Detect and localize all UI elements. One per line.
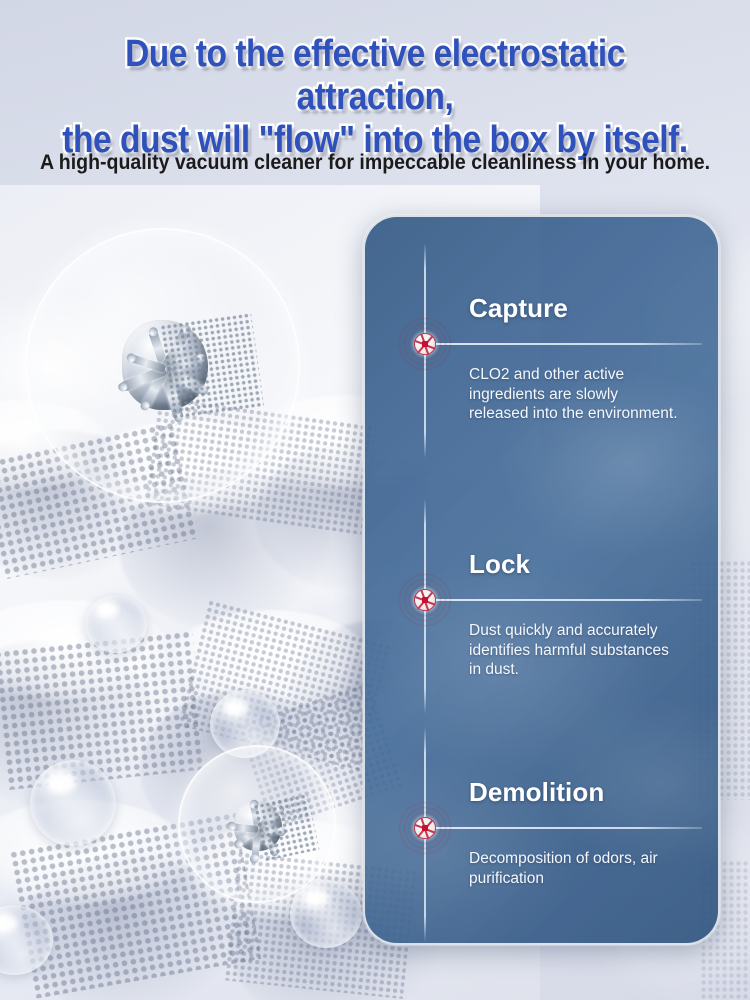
- target-center-dot: [422, 341, 428, 347]
- section-body: Dust quickly and accurately identifies h…: [469, 621, 709, 680]
- crosshair-target-icon: [399, 802, 451, 854]
- section-title: Capture: [469, 293, 568, 323]
- section-body: CLO2 and other active ingredients are sl…: [469, 365, 709, 424]
- section-divider-line: [425, 827, 702, 829]
- section-title: Demolition: [469, 777, 604, 807]
- feature-section-lock: Lock Dust quickly and accurately identif…: [365, 479, 720, 722]
- crosshair-target-icon: [399, 318, 451, 370]
- target-center-dot: [422, 825, 428, 831]
- section-divider-line: [425, 599, 702, 601]
- subheadline: A high-quality vacuum cleaner for impecc…: [26, 150, 724, 176]
- crosshair-target-icon: [399, 574, 451, 626]
- target-center-dot: [422, 597, 428, 603]
- poster-root: Due to the effective electrostatic attra…: [0, 0, 750, 1000]
- headline: Due to the effective electrostatic attra…: [45, 33, 705, 162]
- section-body: Decomposition of odors, air purification: [469, 849, 709, 888]
- feature-section-demolition: Demolition Decomposition of odors, air p…: [365, 707, 720, 945]
- section-divider-line: [425, 343, 702, 345]
- feature-panel: Capture CLO2 and other active ingredient…: [363, 215, 720, 945]
- section-title: Lock: [469, 549, 530, 579]
- feature-section-capture: Capture CLO2 and other active ingredient…: [365, 217, 720, 460]
